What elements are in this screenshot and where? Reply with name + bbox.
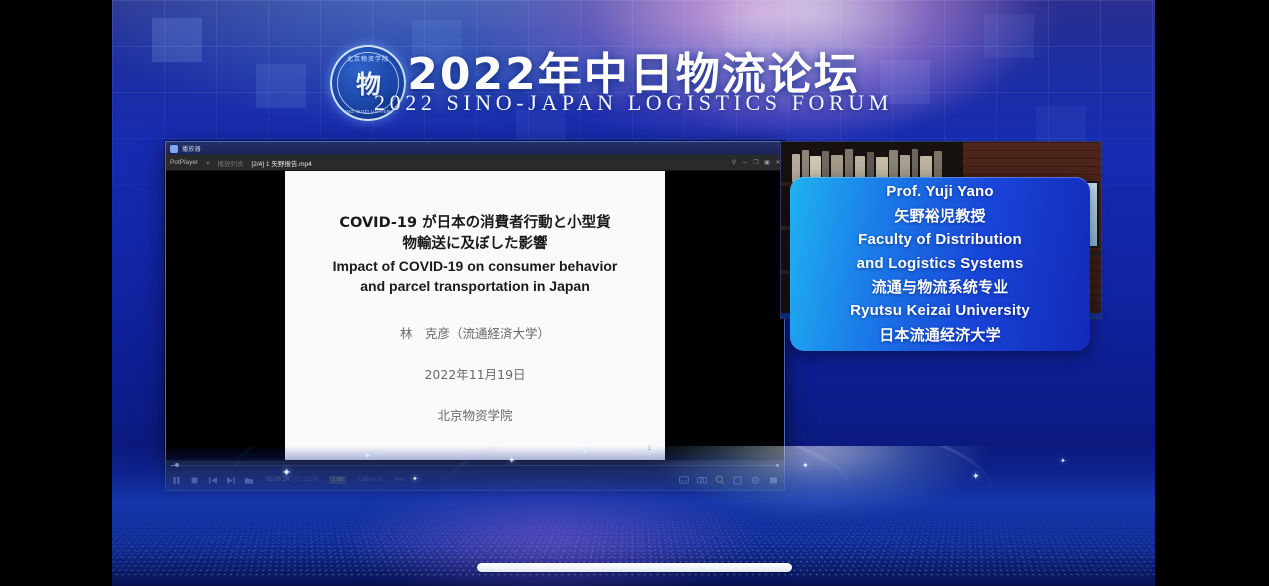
window-buttons[interactable]: ⚲ ─ ❐ ▣ ✕ <box>731 155 781 170</box>
restore-button[interactable]: ❐ <box>753 160 759 166</box>
nameplate-line: Faculty of Distribution <box>858 229 1022 252</box>
player-file-name: [2/4] 1 矢野报告.mp4 <box>251 158 311 168</box>
nameplate-line: Prof. Yuji Yano <box>886 181 993 204</box>
slide-title-jp-line1: COVID-19 が日本の消費者行動と小型貨 <box>305 213 645 234</box>
nameplate-line: 日本流通经济大学 <box>879 324 1001 347</box>
menu-playlist[interactable]: 播放列表 <box>217 158 243 168</box>
screen-root: 北京物资学院 物 BEIJING WUZI UNIVERSITY 2022年中日… <box>0 0 1269 586</box>
menu-potplayer[interactable]: PotPlayer <box>170 159 198 166</box>
sparkle-icon: ✦ <box>364 452 371 460</box>
slide-author: 林 克彦（流通経済大学） <box>400 323 550 342</box>
nameplate-line: 矢野裕児教授 <box>894 205 985 228</box>
sparkle-icon: ✦ <box>972 472 980 481</box>
sparkle-icon: ✦ <box>582 448 589 456</box>
progress-indicator[interactable] <box>477 563 792 572</box>
nameplate-line: 流通与物流系统专业 <box>872 276 1009 299</box>
sparkle-icon: ✦ <box>1060 458 1066 465</box>
player-titlebar-text: 播放器 <box>182 144 201 153</box>
chevron-down-icon[interactable]: ▾ <box>206 159 209 167</box>
nameplate-line: Ryutsu Keizai University <box>850 300 1030 323</box>
presentation-slide: COVID-19 が日本の消費者行動と小型貨 物輸送に及ぼした影響 Impact… <box>285 171 665 460</box>
slide-title-jp-line2: 物輸送に及ぼした影響 <box>305 234 645 255</box>
forum-stage-content: 北京物资学院 物 BEIJING WUZI UNIVERSITY 2022年中日… <box>112 0 1155 586</box>
sparkle-icon: ✦ <box>282 468 291 479</box>
forum-title-english: 2022 SINO-JAPAN LOGISTICS FORUM <box>112 90 1155 116</box>
slide-title-en-line2: and parcel transportation in Japan <box>305 276 645 297</box>
sparkle-icon: ✦ <box>508 456 516 465</box>
player-menubar[interactable]: PotPlayer ▾ 播放列表 [2/4] 1 矢野报告.mp4 ⚲ ─ ❐ … <box>166 155 784 171</box>
potplayer-window[interactable]: 播放器 PotPlayer ▾ 播放列表 [2/4] 1 矢野报告.mp4 ⚲ … <box>165 141 785 491</box>
video-surface[interactable]: COVID-19 が日本の消費者行動と小型貨 物輸送に及ぼした影響 Impact… <box>166 171 784 460</box>
slide-organization: 北京物资学院 <box>437 405 512 424</box>
minimize-button[interactable]: ─ <box>742 160 748 166</box>
slide-date: 2022年11月19日 <box>424 364 525 383</box>
sparkle-icon: ✦ <box>412 476 418 483</box>
pin-icon[interactable]: ⚲ <box>731 160 737 166</box>
slide-title-en-line1: Impact of COVID-19 on consumer behavior <box>305 256 645 277</box>
player-titlebar[interactable]: 播放器 <box>166 142 784 155</box>
potplayer-icon <box>170 145 178 153</box>
speaker-nameplate: Prof. Yuji Yano 矢野裕児教授 Faculty of Distri… <box>790 177 1090 351</box>
slide-title: COVID-19 が日本の消費者行動と小型貨 物輸送に及ぼした影響 Impact… <box>305 213 645 297</box>
maximize-button[interactable]: ▣ <box>764 160 770 166</box>
sparkle-icon: ✦ <box>802 462 809 470</box>
nameplate-line: and Logistics Systems <box>857 253 1024 276</box>
